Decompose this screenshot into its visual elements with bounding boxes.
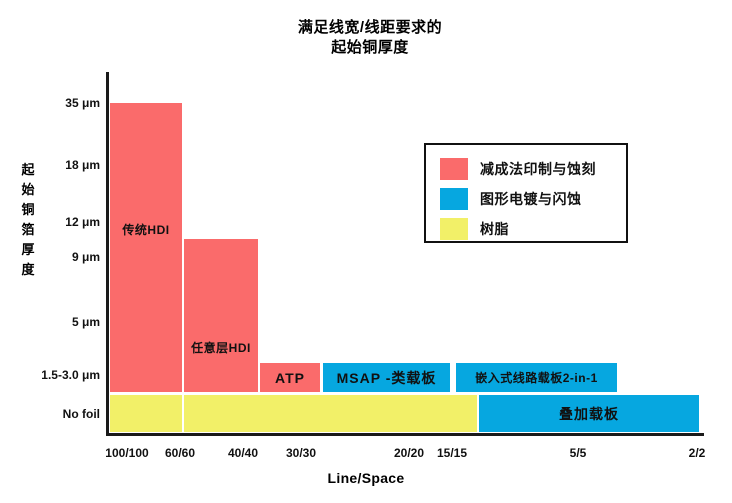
- bar-embedded-2in1[interactable]: 嵌入式线路载板2-in-1: [455, 362, 618, 393]
- x-axis-title: Line/Space: [306, 470, 426, 486]
- y-tick-12um: 12 μm: [14, 215, 100, 229]
- y-tick-9um: 9 μm: [14, 250, 100, 264]
- x-axis-line: [106, 433, 704, 436]
- bar-label-stacked-carrier: 叠加载板: [559, 404, 619, 424]
- legend-label-resin: 树脂: [480, 219, 509, 239]
- legend-swatch-icon-pattern-plating: [440, 188, 468, 210]
- x-tick-40-40: 40/40: [228, 446, 258, 460]
- chart-legend: 减成法印制与蚀刻 图形电镀与闪蚀 树脂: [424, 143, 628, 243]
- bar-any-layer-hdi[interactable]: 任意层HDI: [183, 238, 259, 393]
- chart-container: 满足线宽/线距要求的 起始铜厚度 起始铜箔厚度 35 μm 18 μm 12 μ…: [0, 0, 732, 503]
- x-tick-15-15: 15/15: [437, 446, 467, 460]
- legend-item-subtractive[interactable]: 减成法印制与蚀刻: [440, 155, 626, 183]
- x-tick-2-2: 2/2: [689, 446, 706, 460]
- y-tick-35um: 35 μm: [14, 96, 100, 110]
- legend-label-subtractive: 减成法印制与蚀刻: [480, 159, 596, 179]
- bar-atp[interactable]: ATP: [259, 362, 321, 393]
- x-tick-100-100: 100/100: [105, 446, 148, 460]
- legend-item-pattern-plating[interactable]: 图形电镀与闪蚀: [440, 185, 626, 213]
- x-tick-20-20: 20/20: [394, 446, 424, 460]
- y-tick-18um: 18 μm: [14, 158, 100, 172]
- x-tick-30-30: 30/30: [286, 446, 316, 460]
- bar-stacked-carrier[interactable]: 叠加载板: [478, 394, 700, 433]
- legend-item-resin[interactable]: 树脂: [440, 215, 626, 243]
- bar-label-any-layer-hdi: 任意层HDI: [191, 339, 251, 356]
- bar-label-traditional-hdi: 传统HDI: [122, 221, 169, 238]
- legend-swatch-icon-subtractive: [440, 158, 468, 180]
- bar-label-msap: MSAP -类载板: [337, 368, 437, 388]
- legend-label-pattern-plating: 图形电镀与闪蚀: [480, 189, 582, 209]
- x-tick-5-5: 5/5: [570, 446, 587, 460]
- y-tick-1-5-3-0um: 1.5-3.0 μm: [14, 368, 100, 382]
- y-tick-no-foil: No foil: [14, 407, 100, 421]
- chart-title: 满足线宽/线距要求的 起始铜厚度: [200, 18, 540, 58]
- bar-label-embedded-2in1: 嵌入式线路载板2-in-1: [475, 369, 598, 386]
- bar-resin-left[interactable]: [109, 394, 183, 433]
- y-tick-5um: 5 μm: [14, 315, 100, 329]
- bar-resin-mid[interactable]: [183, 394, 478, 433]
- bar-msap[interactable]: MSAP -类载板: [322, 362, 451, 393]
- bar-label-atp: ATP: [275, 370, 305, 386]
- bar-traditional-hdi[interactable]: 传统HDI: [109, 102, 183, 393]
- x-tick-60-60: 60/60: [165, 446, 195, 460]
- legend-swatch-icon-resin: [440, 218, 468, 240]
- y-axis-ticks: 35 μm 18 μm 12 μm 9 μm 5 μm 1.5-3.0 μm N…: [8, 0, 100, 503]
